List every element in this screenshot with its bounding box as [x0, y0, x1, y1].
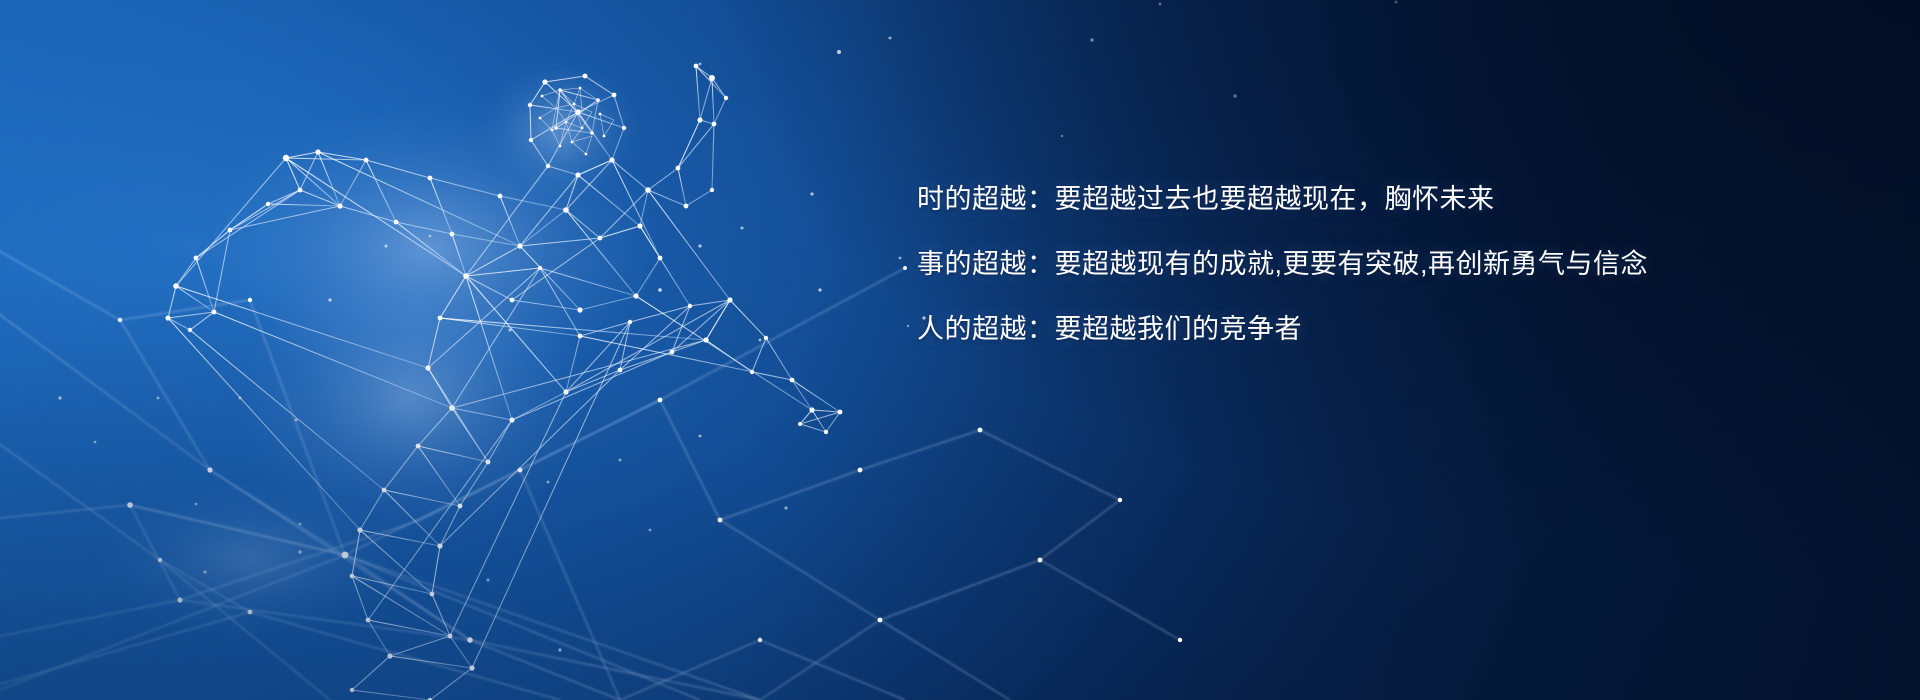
background-vignette [0, 0, 1920, 700]
hero-copy-line-2: 事的超越：要超越现有的成就,更要有突破,再创新勇气与信念 [917, 251, 1557, 278]
hero-copy-line-1: 时的超越：要超越过去也要超越现在，胸怀未来 [917, 186, 1557, 213]
hero-copy: 时的超越：要超越过去也要超越现在，胸怀未来 事的超越：要超越现有的成就,更要有突… [917, 186, 1557, 343]
hero-copy-line-3: 人的超越：要超越我们的竞争者 [917, 316, 1557, 343]
hero-banner: 时的超越：要超越过去也要超越现在，胸怀未来 事的超越：要超越现有的成就,更要有突… [0, 0, 1920, 700]
